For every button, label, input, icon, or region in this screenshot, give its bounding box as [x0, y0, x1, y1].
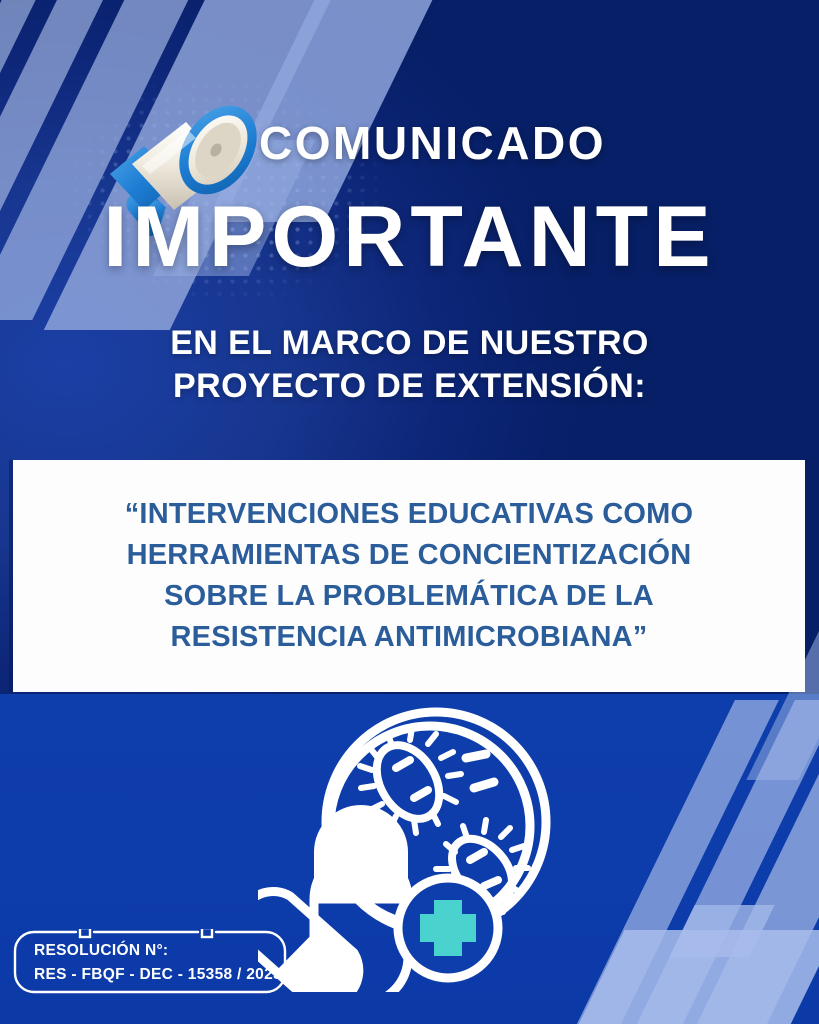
project-title-line-3: SOBRE LA PROBLEMÁTICA DE LA — [49, 576, 769, 617]
antimicrobial-resistance-illustration — [258, 700, 568, 992]
resolution-badge: RESOLUCIÓN N°: RES - FBQF - DEC - 15358 … — [12, 929, 288, 995]
subheadline-text: EN EL MARCO DE NUESTRO PROYECTO DE EXTEN… — [0, 322, 819, 408]
announcement-poster: COMUNICADO IMPORTANTE EN EL MARCO DE NUE… — [0, 0, 819, 1024]
kicker-text: COMUNICADO — [46, 120, 819, 166]
headline-block: COMUNICADO IMPORTANTE EN EL MARCO DE NUE… — [0, 120, 819, 408]
project-title-line-1: “INTERVENCIONES EDUCATIVAS COMO — [49, 494, 769, 535]
project-title-text: “INTERVENCIONES EDUCATIVAS COMO HERRAMIE… — [49, 494, 769, 659]
main-word-text: IMPORTANTE — [0, 194, 819, 280]
subheadline-line-2: PROYECTO DE EXTENSIÓN: — [0, 365, 819, 408]
project-title-line-2: HERRAMIENTAS DE CONCIENTIZACIÓN — [49, 535, 769, 576]
resolution-label: RESOLUCIÓN N°: — [34, 939, 284, 963]
medical-cross-icon — [398, 878, 498, 978]
subheadline-line-1: EN EL MARCO DE NUESTRO — [0, 322, 819, 365]
project-title-line-4: RESISTENCIA ANTIMICROBIANA” — [49, 617, 769, 658]
resolution-value: RES - FBQF - DEC - 15358 / 2025 — [34, 963, 284, 987]
resolution-badge-text: RESOLUCIÓN N°: RES - FBQF - DEC - 15358 … — [34, 939, 284, 986]
project-title-panel: “INTERVENCIONES EDUCATIVAS COMO HERRAMIE… — [13, 460, 805, 692]
